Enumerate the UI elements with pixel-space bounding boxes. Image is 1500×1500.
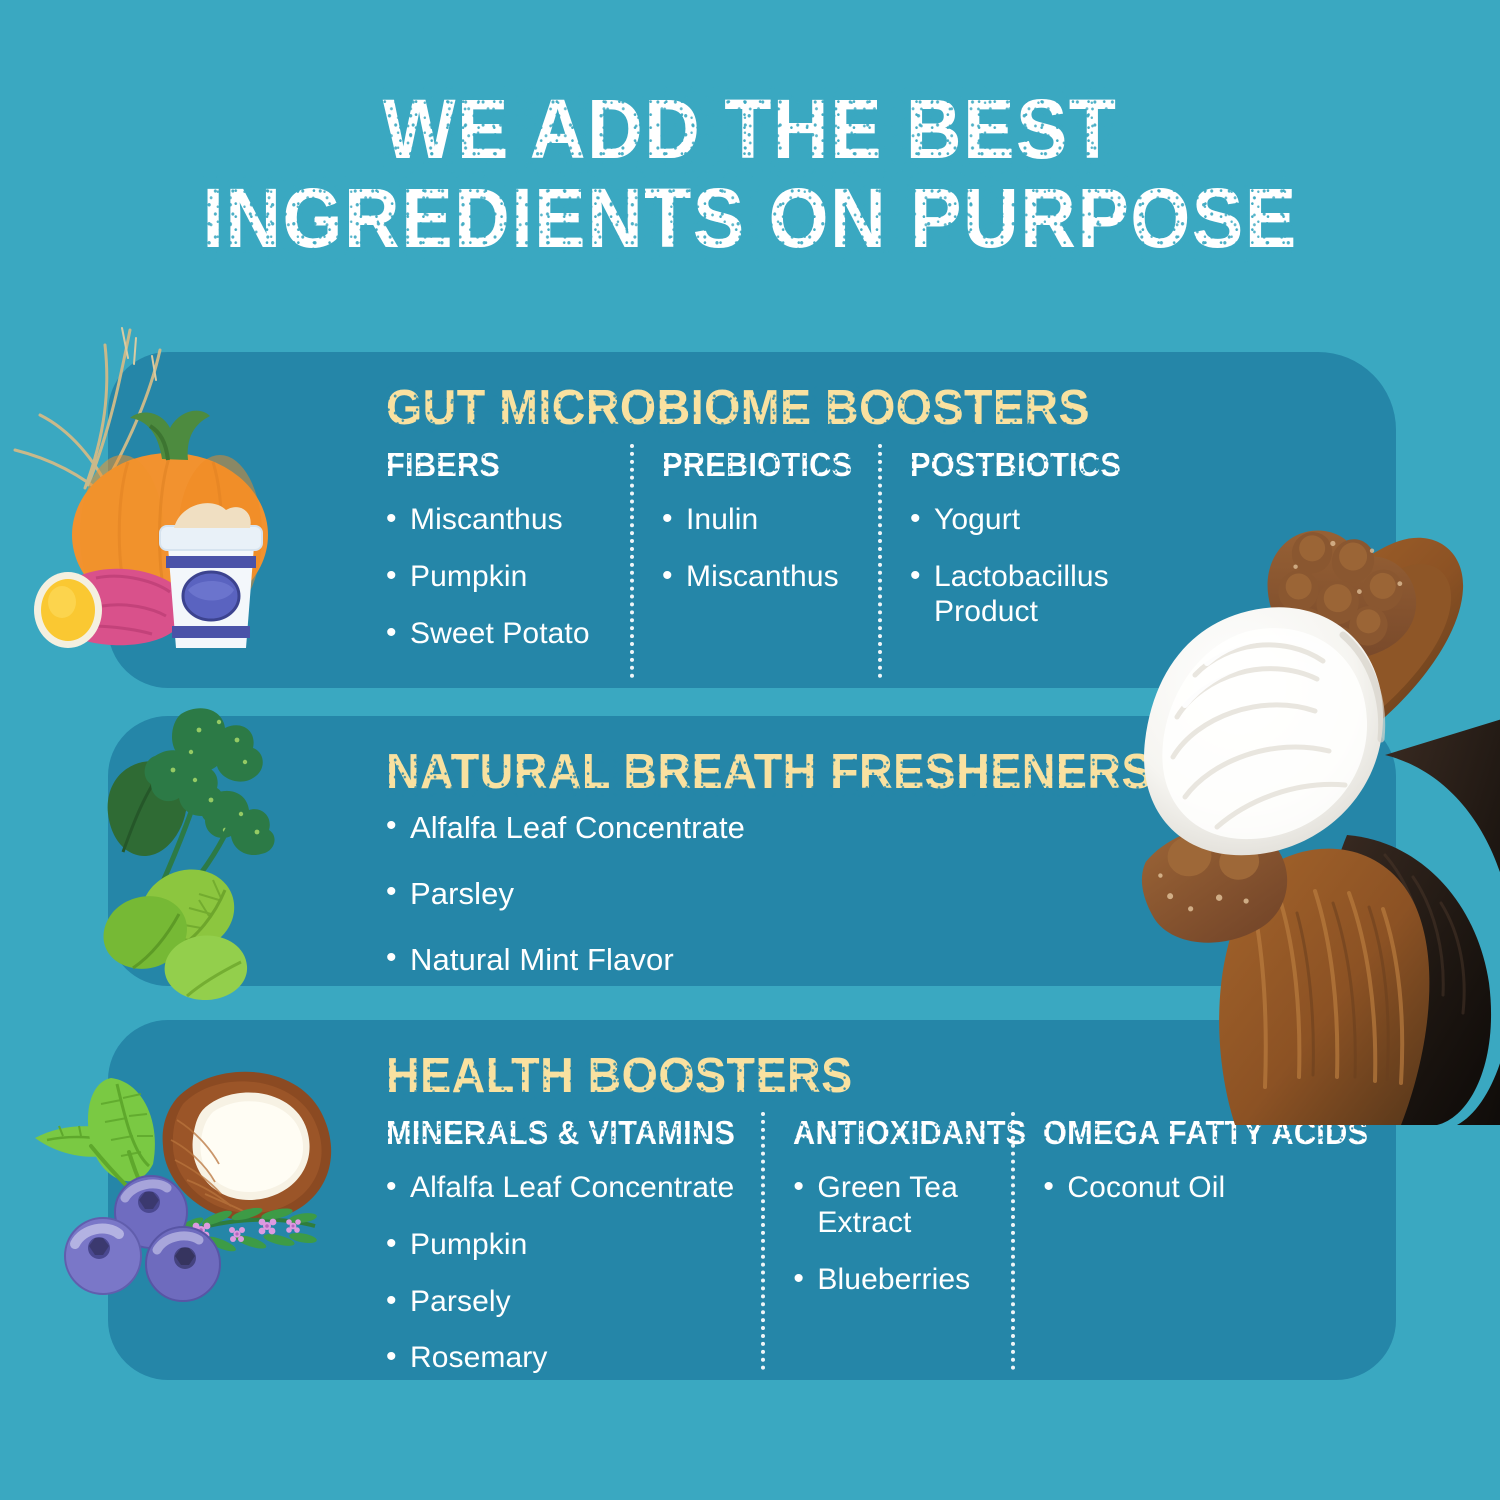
column-prebiotics-list: Inulin Miscanthus: [662, 503, 878, 595]
column-omega-fatty-acids-list: Coconut Oil: [1043, 1171, 1371, 1206]
dog-paw-holding-dental-chew-icon: [1085, 505, 1500, 1125]
column-fibers: FIBERS Miscanthus Pumpkin Sweet Potato: [386, 448, 630, 678]
list-item: Blueberries: [793, 1263, 1011, 1298]
card-3-heading: HEALTH BOOSTERS: [386, 1052, 853, 1101]
parsley-mint-spinach-icon: [95, 700, 355, 1000]
list-item: Pumpkin: [386, 560, 630, 595]
list-item: Rosemary: [386, 1341, 761, 1376]
list-item: Inulin: [662, 503, 878, 538]
page-title: WE ADD THE BEST INGREDIENTS ON PURPOSE: [60, 85, 1440, 263]
page-title-line-1: WE ADD THE BEST: [383, 85, 1118, 174]
column-prebiotics-title: PREBIOTICS: [662, 448, 852, 481]
column-antioxidants: ANTIOXIDANTS Green Tea Extract Blueberri…: [761, 1116, 1011, 1370]
list-item: Miscanthus: [662, 560, 878, 595]
column-antioxidants-title: ANTIOXIDANTS: [793, 1116, 1027, 1149]
list-item: Miscanthus: [386, 503, 630, 538]
list-item: Parsely: [386, 1285, 761, 1320]
card-3-columns: MINERALS & VITAMINS Alfalfa Leaf Concent…: [386, 1116, 1366, 1370]
infographic-page: WE ADD THE BEST INGREDIENTS ON PURPOSE G…: [0, 0, 1500, 1500]
column-omega-fatty-acids: OMEGA FATTY ACIDS Coconut Oil: [1011, 1116, 1371, 1370]
list-item: Sweet Potato: [386, 617, 630, 652]
list-item: Pumpkin: [386, 1228, 761, 1263]
column-fibers-list: Miscanthus Pumpkin Sweet Potato: [386, 503, 630, 651]
column-antioxidants-list: Green Tea Extract Blueberries: [793, 1171, 1011, 1297]
pumpkin-sweet-potato-yogurt-icon: [10, 320, 310, 680]
card-2-heading: NATURAL BREATH FRESHENERS: [386, 748, 1153, 797]
column-minerals-vitamins: MINERALS & VITAMINS Alfalfa Leaf Concent…: [386, 1116, 761, 1370]
list-item: Alfalfa Leaf Concentrate: [386, 1171, 761, 1206]
column-prebiotics: PREBIOTICS Inulin Miscanthus: [630, 448, 878, 678]
card-1-heading: GUT MICROBIOME BOOSTERS: [386, 384, 1090, 433]
list-item: Coconut Oil: [1043, 1171, 1371, 1206]
column-minerals-vitamins-title: MINERALS & VITAMINS: [386, 1116, 735, 1149]
list-item: Green Tea Extract: [793, 1171, 1011, 1241]
page-title-line-2: INGREDIENTS ON PURPOSE: [202, 174, 1297, 263]
column-fibers-title: FIBERS: [386, 448, 500, 481]
coconut-blueberry-rosemary-greentea-icon: [25, 1060, 355, 1380]
column-postbiotics-title: POSTBIOTICS: [910, 448, 1121, 481]
column-minerals-vitamins-list: Alfalfa Leaf Concentrate Pumpkin Parsely…: [386, 1171, 761, 1376]
